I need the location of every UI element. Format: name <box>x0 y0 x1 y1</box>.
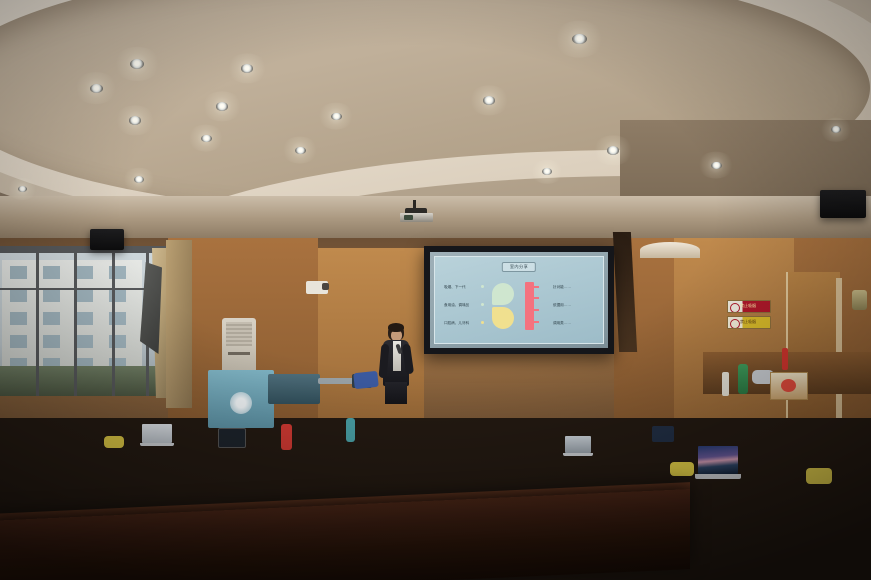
projector-icon <box>396 200 436 222</box>
downlight-4 <box>216 102 228 111</box>
exterior-window <box>43 312 60 325</box>
slide-left-label-3: 口腔病、儿牙科 <box>444 321 469 326</box>
downlight-2 <box>241 64 253 73</box>
downlight-10 <box>572 34 587 45</box>
downlight-11 <box>607 146 619 155</box>
slide-shape-green <box>492 283 514 305</box>
exterior-window <box>10 266 27 279</box>
laptop-center <box>563 436 593 456</box>
slide-right-label-3: 调用类…… <box>553 321 571 326</box>
yellow-bag-2 <box>806 468 832 484</box>
no-smoking-sign-red: 禁止吸烟 <box>727 300 771 313</box>
lecture-hall-photo: 室内分享 吸烟、下一代 食用油、调味品 口腔病、儿牙科 针对能…… 依据用…… … <box>0 0 871 580</box>
downlight-15 <box>134 176 144 183</box>
downlight-7 <box>201 135 212 143</box>
exterior-window <box>76 335 93 348</box>
slide-right-label-2: 依据用…… <box>553 303 571 308</box>
downlight-9 <box>483 96 495 105</box>
presentation-slide: 室内分享 吸烟、下一代 食用油、调味品 口腔病、儿牙科 针对能…… 依据用…… … <box>434 256 604 344</box>
slide-right-label-1: 针对能…… <box>553 285 571 290</box>
exterior-window <box>76 312 93 325</box>
exterior-window <box>43 266 60 279</box>
yellow-bag-1 <box>670 462 694 476</box>
no-smoking-sign-yellow: 禁止吸烟 <box>727 316 771 329</box>
slide-bar-red <box>525 282 534 330</box>
exterior-window <box>10 289 27 302</box>
teal-bottle <box>346 418 355 442</box>
wall-speaker-left <box>90 229 124 250</box>
exterior-window <box>76 289 93 302</box>
slide-shape-yellow <box>492 307 514 329</box>
downlight-3 <box>90 84 103 93</box>
no-smoking-icon <box>730 303 740 313</box>
downlight-16 <box>831 126 841 133</box>
red-cup <box>281 424 292 450</box>
no-smoking-icon-2 <box>730 319 740 329</box>
tablet-left <box>218 428 244 448</box>
laptop-left <box>140 424 174 446</box>
laptop-right <box>695 446 741 480</box>
wall-speaker-right <box>820 190 866 218</box>
slide-left-label-1: 吸烟、下一代 <box>444 285 466 290</box>
exterior-window <box>76 266 93 279</box>
slide-left-label-2: 食用油、调味品 <box>444 303 469 308</box>
downlight-6 <box>295 147 306 155</box>
downlight-1 <box>130 59 144 69</box>
exterior-window <box>43 289 60 302</box>
yellow-bag-3 <box>104 436 124 448</box>
downlight-14 <box>18 186 27 192</box>
downlight-8 <box>331 113 342 121</box>
exterior-window <box>43 335 60 348</box>
camera-lens-icon <box>322 283 329 290</box>
tablet-right <box>652 426 674 444</box>
downlight-12 <box>711 162 722 170</box>
slide-title: 室内分享 <box>502 262 536 272</box>
exterior-window <box>10 312 27 325</box>
downlight-5 <box>129 116 141 125</box>
exterior-window <box>10 335 27 348</box>
downlight-13 <box>542 168 552 175</box>
